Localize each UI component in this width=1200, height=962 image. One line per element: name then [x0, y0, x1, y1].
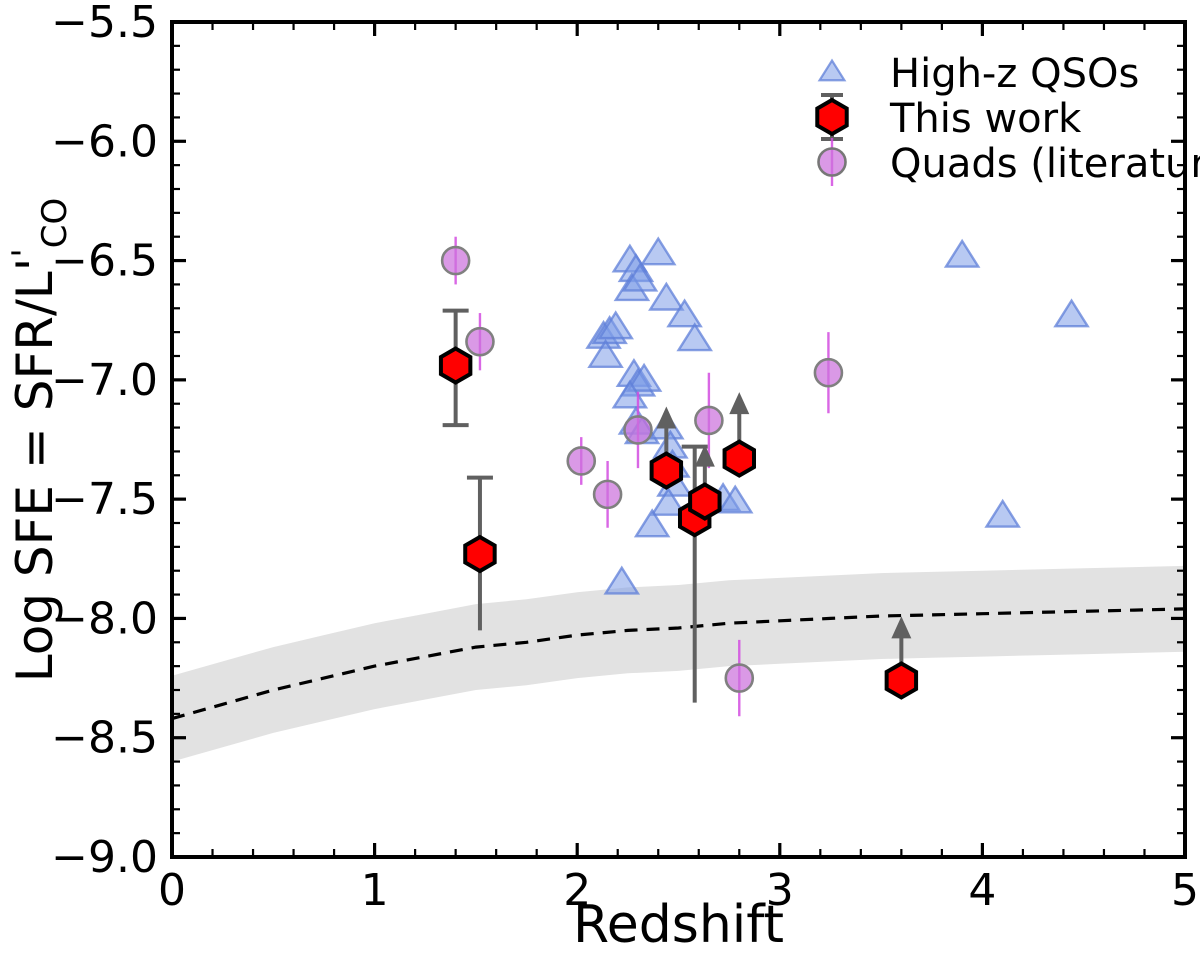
legend-marker-quads: [819, 149, 846, 176]
thiswork-marker: [441, 349, 470, 383]
x-tick-label: 4: [968, 865, 996, 916]
qso-marker: [987, 501, 1019, 527]
quads-marker: [466, 328, 493, 355]
quads-marker: [624, 416, 651, 443]
thiswork-limit-arrowhead: [656, 406, 676, 428]
legend-marker-this-work: [817, 100, 846, 134]
x-tick-label: 5: [1171, 865, 1199, 916]
quads-marker: [726, 665, 753, 692]
qso-marker: [946, 241, 978, 267]
thiswork-marker: [725, 442, 754, 476]
thiswork-limit-arrowhead: [729, 392, 749, 414]
y-tick-label: −8.0: [51, 593, 158, 644]
y-tick-label: −9.0: [51, 832, 158, 883]
thiswork-marker: [690, 485, 719, 519]
thiswork-marker: [887, 663, 916, 697]
y-tick-label: −7.0: [51, 355, 158, 406]
qso-marker: [1055, 301, 1087, 327]
x-tick-label: 1: [361, 865, 389, 916]
qso-marker: [642, 239, 674, 265]
trend-scatter-band: [172, 566, 1185, 762]
legend-label: Quads (literature): [890, 141, 1200, 187]
y-tick-label: −8.5: [51, 713, 158, 764]
y-tick-label: −5.5: [51, 0, 158, 48]
qso-marker: [679, 324, 711, 350]
y-axis-label-subscript: CO: [35, 198, 75, 249]
figure-container: 012345−5.5−6.0−6.5−7.0−7.5−8.0−8.5−9.0Re…: [0, 0, 1200, 962]
thiswork-marker: [652, 454, 681, 488]
quads-marker: [568, 447, 595, 474]
legend-label: High-z QSOs: [890, 51, 1139, 97]
quads-marker: [815, 359, 842, 386]
thiswork-marker: [465, 537, 494, 571]
quads-marker: [594, 481, 621, 508]
legend-marker-high-z-qsos: [820, 61, 845, 81]
quads-marker: [442, 247, 469, 274]
legend-label: This work: [889, 96, 1082, 142]
y-tick-label: −6.0: [51, 116, 158, 167]
scatter-plot: 012345−5.5−6.0−6.5−7.0−7.5−8.0−8.5−9.0Re…: [0, 0, 1200, 962]
x-tick-label: 0: [158, 865, 186, 916]
quads-marker: [695, 407, 722, 434]
y-axis-label-prime: ': [5, 248, 45, 257]
legend: High-z QSOsThis workQuads (literature): [817, 51, 1200, 187]
y-tick-label: −7.5: [51, 474, 158, 525]
x-axis-label: Redshift: [573, 895, 784, 955]
qso-marker: [606, 568, 638, 594]
